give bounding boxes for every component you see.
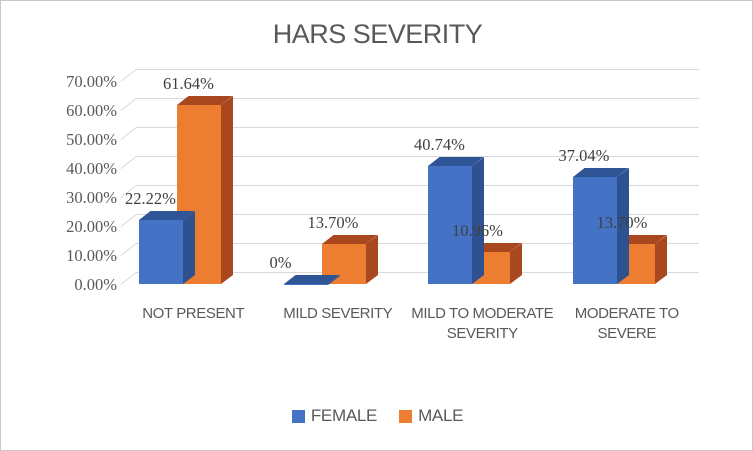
- y-axis-tick-label: 50.00%: [66, 130, 117, 150]
- y-axis-tick-label: 60.00%: [66, 101, 117, 121]
- y-axis-tick-label: 70.00%: [66, 72, 117, 92]
- y-axis-tick-label: 10.00%: [66, 246, 117, 266]
- data-label: 10.96%: [452, 221, 503, 241]
- x-axis-tick-label: MODERATE TO SEVERE: [555, 304, 700, 344]
- plot-area: 61.64%22.22%13.70%0%10.96%40.74%13.70%37…: [121, 69, 699, 284]
- y-axis: 0.00%10.00%20.00%30.00%40.00%50.00%60.00…: [9, 69, 117, 284]
- y-axis-tick-label: 20.00%: [66, 217, 117, 237]
- bar-side-face: [221, 96, 233, 284]
- bar-female-1[interactable]: [284, 284, 328, 285]
- data-label: 13.70%: [308, 213, 359, 233]
- chart-title: HARS SEVERITY: [1, 19, 753, 50]
- data-label: 13.70%: [597, 213, 648, 233]
- legend-label: FEMALE: [311, 406, 377, 426]
- data-label: 37.04%: [559, 146, 610, 166]
- x-axis: NOT PRESENTMILD SEVERITYMILD TO MODERATE…: [121, 304, 699, 374]
- legend-label: MALE: [418, 406, 463, 426]
- data-label: 61.64%: [163, 74, 214, 94]
- bar-side-face: [183, 211, 195, 284]
- y-axis-tick-label: 0.00%: [74, 275, 117, 295]
- legend-swatch-icon: [292, 410, 305, 423]
- data-label: 40.74%: [414, 135, 465, 155]
- legend-item-female[interactable]: FEMALE: [292, 406, 377, 426]
- bar-front-face: [139, 220, 183, 284]
- chart-legend: FEMALEMALE: [1, 406, 753, 426]
- data-label: 0%: [270, 253, 292, 273]
- x-axis-tick-label: MILD TO MODERATE SEVERITY: [410, 304, 555, 344]
- x-axis-tick-label: MILD SEVERITY: [266, 304, 411, 324]
- y-axis-tick-label: 40.00%: [66, 159, 117, 179]
- chart-container: HARS SEVERITY 0.00%10.00%20.00%30.00%40.…: [0, 0, 753, 451]
- bar-series-group: 61.64%22.22%13.70%0%10.96%40.74%13.70%37…: [121, 69, 699, 284]
- y-axis-tick-label: 30.00%: [66, 188, 117, 208]
- bar-front-face: [284, 284, 328, 285]
- data-label: 22.22%: [125, 189, 176, 209]
- legend-swatch-icon: [399, 410, 412, 423]
- legend-item-male[interactable]: MALE: [399, 406, 463, 426]
- x-axis-tick-label: NOT PRESENT: [121, 304, 266, 324]
- bar-female-0[interactable]: [139, 220, 183, 284]
